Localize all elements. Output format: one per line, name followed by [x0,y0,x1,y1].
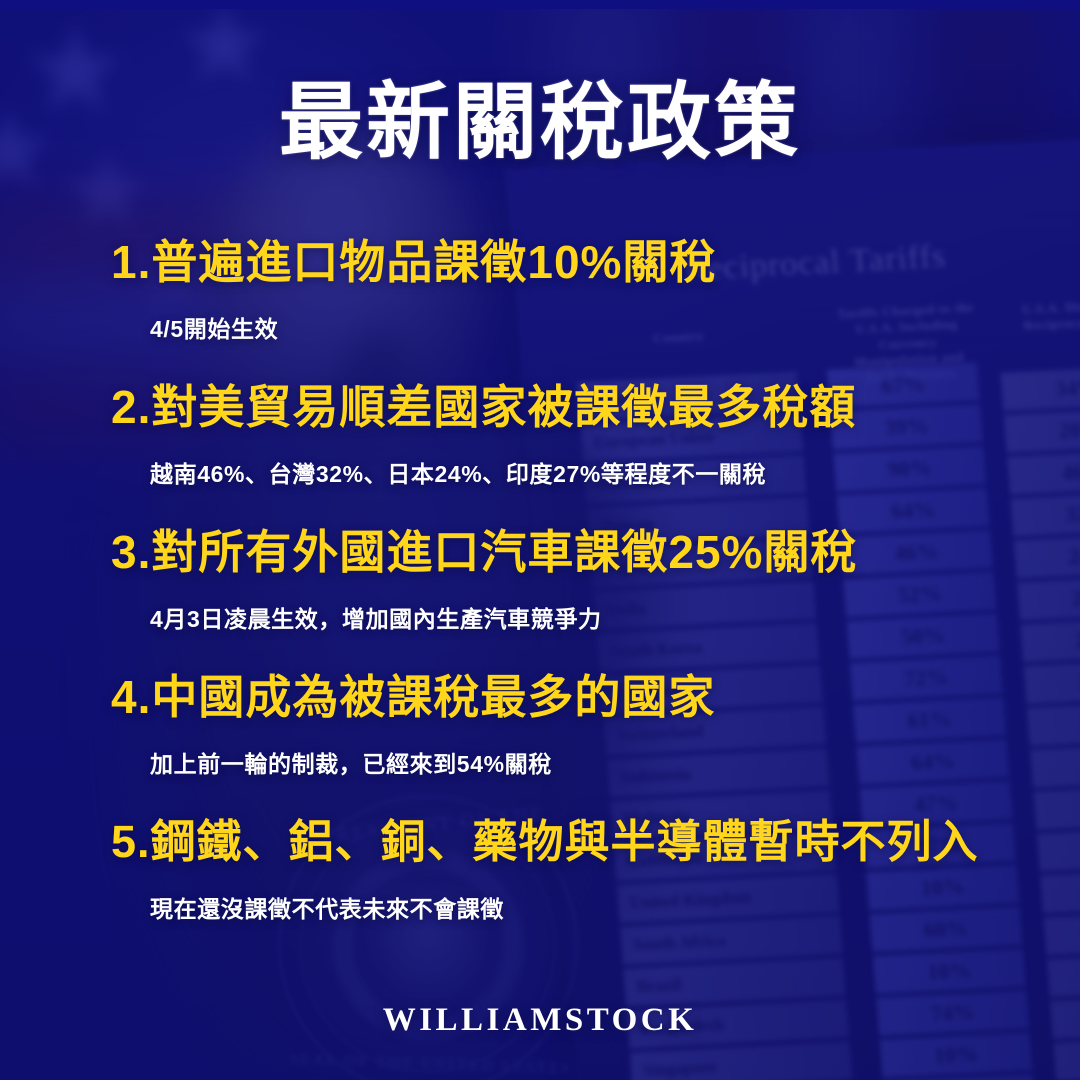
policy-list: 1.普遍進口物品課徵10%關稅4/5開始生效2.對美貿易順差國家被課徵最多稅額越… [0,238,1080,963]
policy-item: 3.對所有外國進口汽車課徵25%關稅4月3日凌晨生效，增加國內生產汽車競爭力 [0,528,1080,673]
policy-item: 1.普遍進口物品課徵10%關稅4/5開始生效 [0,238,1080,383]
poster-content: 最新關稅政策 1.普遍進口物品課徵10%關稅4/5開始生效2.對美貿易順差國家被… [0,0,1080,1080]
policy-item: 4.中國成為被課稅最多的國家加上前一輪的制裁，已經來到54%關稅 [0,673,1080,818]
policy-item-heading: 1.普遍進口物品課徵10%關稅 [111,238,716,288]
policy-item-heading: 5.鋼鐵、鋁、銅、藥物與半導體暫時不列入 [111,818,979,867]
policy-item-heading: 3.對所有外國進口汽車課徵25%關稅 [111,528,857,578]
policy-item-subtext: 越南46%、台灣32%、日本24%、印度27%等程度不一關稅 [150,455,766,489]
policy-item-subtext: 4/5開始生效 [150,310,278,344]
policy-item: 2.對美貿易順差國家被課徵最多稅額越南46%、台灣32%、日本24%、印度27%… [0,383,1080,528]
tariff-policy-poster: ★ ★ ★ ★ ★ Reciprocal Tariffs Country Tar… [0,0,1080,1080]
policy-item-heading: 2.對美貿易順差國家被課徵最多稅額 [111,383,856,433]
brand-wordmark: WILLIAMSTOCK [0,1002,1080,1039]
policy-item-heading: 4.中國成為被課稅最多的國家 [111,673,715,723]
policy-item-subtext: 現在還沒課徵不代表未來不會課徵 [150,890,504,924]
policy-item-subtext: 4月3日凌晨生效，增加國內生產汽車競爭力 [150,600,602,634]
policy-item: 5.鋼鐵、鋁、銅、藥物與半導體暫時不列入現在還沒課徵不代表未來不會課徵 [0,818,1080,963]
policy-item-subtext: 加上前一輪的制裁，已經來到54%關稅 [150,745,552,779]
page-title: 最新關稅政策 [0,80,1080,164]
